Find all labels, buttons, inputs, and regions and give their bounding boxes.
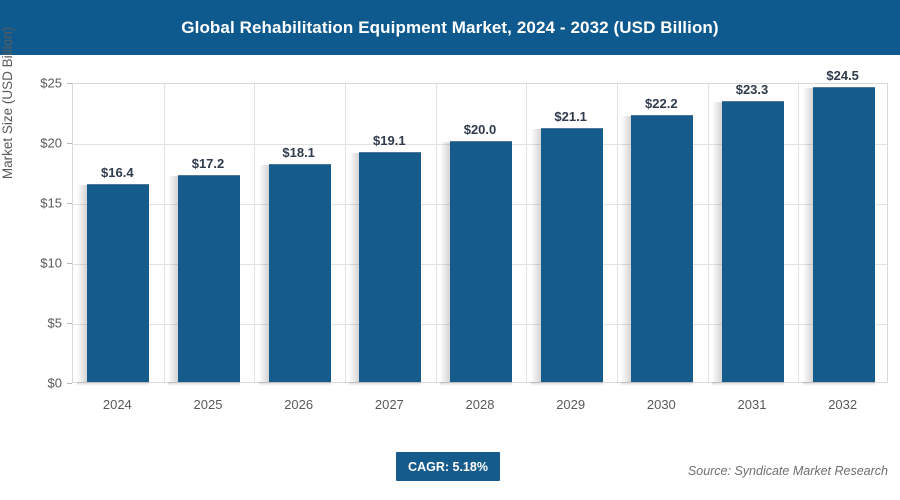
- bar-shadow: [259, 165, 269, 382]
- gridline-vertical: [617, 84, 618, 382]
- x-axis-tick-label: 2029: [556, 397, 585, 412]
- cagr-badge-label: CAGR: 5.18%: [408, 460, 488, 474]
- gridline-vertical: [526, 84, 527, 382]
- bar[interactable]: [541, 128, 603, 382]
- bar-value-label: $19.1: [373, 133, 406, 148]
- y-axis-tick-label: $20: [2, 136, 62, 151]
- bar-value-label: $17.2: [192, 156, 225, 171]
- bar-baseline-shadow: [621, 382, 693, 386]
- source-note: Source: Syndicate Market Research: [688, 464, 888, 478]
- y-axis-tick-label: $25: [2, 76, 62, 91]
- bar-shadow: [440, 142, 450, 382]
- bar[interactable]: [813, 87, 875, 382]
- gridline-vertical: [164, 84, 165, 382]
- bar-baseline-shadow: [349, 382, 421, 386]
- bar-value-label: $22.2: [645, 96, 678, 111]
- bar[interactable]: [450, 141, 512, 382]
- chart-figure: Global Rehabilitation Equipment Market, …: [0, 0, 900, 500]
- bar-value-label: $16.4: [101, 165, 134, 180]
- y-axis-tick-mark: [67, 383, 72, 384]
- bar-shadow: [803, 88, 813, 382]
- bar-baseline-shadow: [168, 382, 240, 386]
- y-axis-tick-label: $15: [2, 196, 62, 211]
- cagr-badge: CAGR: 5.18%: [396, 452, 500, 481]
- bar[interactable]: [87, 184, 149, 382]
- x-axis-tick-label: 2028: [466, 397, 495, 412]
- bar-shadow: [349, 153, 359, 382]
- bar[interactable]: [631, 115, 693, 382]
- bar-value-label: $24.5: [826, 68, 859, 83]
- bar-value-label: $18.1: [282, 145, 315, 160]
- title-banner: Global Rehabilitation Equipment Market, …: [0, 0, 900, 55]
- bar-value-label: $21.1: [554, 109, 587, 124]
- bar-value-label: $23.3: [736, 82, 769, 97]
- y-axis-tick-label: $10: [2, 256, 62, 271]
- bar-baseline-shadow: [531, 382, 603, 386]
- x-axis-tick-label: 2030: [647, 397, 676, 412]
- bar-shadow: [168, 176, 178, 382]
- gridline-vertical: [708, 84, 709, 382]
- bar[interactable]: [269, 164, 331, 382]
- bar-shadow: [531, 129, 541, 382]
- x-axis-tick-label: 2027: [375, 397, 404, 412]
- bar-value-label: $20.0: [464, 122, 497, 137]
- bar[interactable]: [359, 152, 421, 382]
- bar-shadow: [712, 102, 722, 382]
- bar[interactable]: [722, 101, 784, 382]
- gridline-vertical: [436, 84, 437, 382]
- bar-shadow: [77, 185, 87, 382]
- x-axis-tick-label: 2026: [284, 397, 313, 412]
- x-axis-tick-label: 2031: [738, 397, 767, 412]
- x-axis-tick-label: 2032: [828, 397, 857, 412]
- bar-baseline-shadow: [259, 382, 331, 386]
- y-axis-tick-label: $0: [2, 376, 62, 391]
- x-axis-tick-label: 2024: [103, 397, 132, 412]
- bar-shadow: [621, 116, 631, 382]
- gridline-vertical: [798, 84, 799, 382]
- bar-baseline-shadow: [803, 382, 875, 386]
- bar-baseline-shadow: [712, 382, 784, 386]
- gridline-vertical: [254, 84, 255, 382]
- bar[interactable]: [178, 175, 240, 382]
- bar-baseline-shadow: [77, 382, 149, 386]
- y-axis-tick-label: $5: [2, 316, 62, 331]
- x-axis-tick-label: 2025: [194, 397, 223, 412]
- gridline-vertical: [345, 84, 346, 382]
- bar-baseline-shadow: [440, 382, 512, 386]
- page-title: Global Rehabilitation Equipment Market, …: [181, 18, 718, 38]
